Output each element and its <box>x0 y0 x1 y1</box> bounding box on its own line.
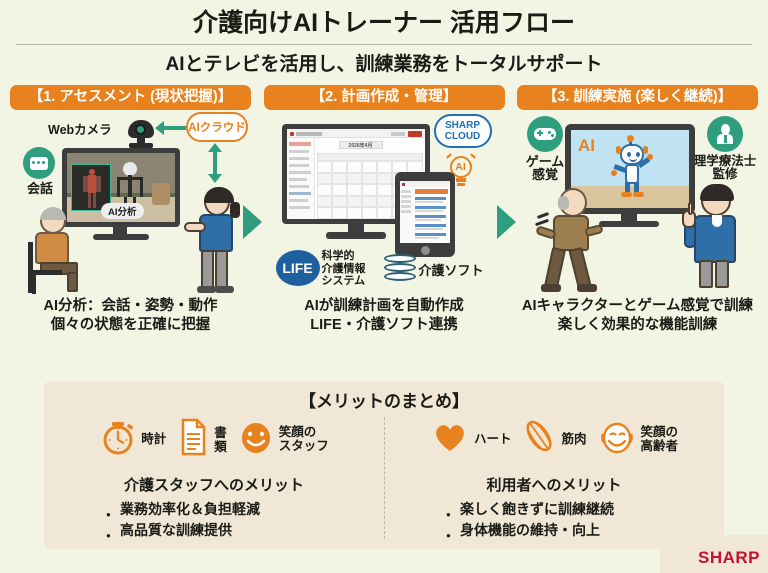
users-merits-title: 利用者へのメリット <box>384 474 724 495</box>
merits-column-staff: 時計 書 類 <box>44 412 384 541</box>
ai-robot-character <box>615 138 649 200</box>
list-item: 業務効率化＆負担軽減 <box>106 499 384 520</box>
exercising-torso <box>553 215 589 251</box>
exercising-head <box>559 188 587 217</box>
smiling-staff-line2: スタッフ <box>279 439 329 453</box>
panel-2-caption-line1: AIが訓練計画を自動作成 <box>264 297 505 316</box>
motion-line-2 <box>535 219 549 227</box>
merits-title: 【メリットのまとめ】 <box>44 381 724 412</box>
documents-label-line1: 書 <box>214 426 227 440</box>
cloud-sync-arrow-up <box>208 143 222 152</box>
documents-label: 書 類 <box>214 426 227 454</box>
panel-1-caption-line1: AI分析：会話・姿勢・動作 <box>10 297 251 316</box>
cloud-to-webcam-arrow-head <box>155 121 164 135</box>
flow-arrow-2-to-3 <box>497 205 516 239</box>
sharp-cloud-line1: SHARP <box>445 120 480 131</box>
life-badge-icon: LIFE <box>276 250 320 286</box>
elderly-shin <box>67 272 78 292</box>
sharp-logo: SHARP <box>698 548 768 573</box>
staff-merits-list: 業務効率化＆負担軽減 高品質な訓練提供 <box>106 499 384 541</box>
merit-icon-smiling-elderly: 笑顔の 高齢者 <box>597 416 679 461</box>
cloud-to-webcam-arrow-shaft <box>162 126 186 130</box>
exercising-elderly-figure <box>535 188 605 295</box>
list-item: 楽しく飽きずに訓練継続 <box>446 499 724 520</box>
step-1-header: 【1. アセスメント (現状把握)】 <box>10 85 251 110</box>
merit-icon-muscle: 筋肉 <box>521 416 586 461</box>
instructor-torso <box>694 215 736 263</box>
documents-icon <box>176 416 210 463</box>
training-tv-base <box>599 221 659 227</box>
life-label-line1: 科学的 <box>322 250 366 263</box>
smiling-elderly-label: 笑顔の 高齢者 <box>641 425 679 453</box>
flow-panel-1: Webカメラ AIクラウド <box>10 110 251 350</box>
list-item: 高品質な訓練提供 <box>106 520 384 541</box>
game-feel-line2: 感覚 <box>521 168 569 181</box>
panel-1-illustration: Webカメラ AIクラウド <box>10 110 251 295</box>
ai-bulb-label: AI <box>455 161 466 173</box>
staff-shoe-left <box>197 286 216 293</box>
panel-3-caption-line1: AIキャラクターとゲーム感覚で訓練 <box>517 297 758 316</box>
instructor-head <box>701 186 731 216</box>
staff-head <box>204 188 230 216</box>
planning-tablet <box>395 172 455 257</box>
ai-cloud-badge: AIクラウド <box>186 112 248 142</box>
panel-3-caption-line2: 楽しく効果的な機能訓練 <box>517 316 758 335</box>
staff-person-figure <box>182 188 242 295</box>
instructing-staff-figure <box>677 186 747 295</box>
clock-label: 時計 <box>141 432 166 446</box>
step-2-header: 【2. 計画作成・管理】 <box>264 85 505 110</box>
game-controller-icon <box>527 116 563 152</box>
panel-2-illustration: SHARP CLOUD AI <box>264 110 505 295</box>
flow-panel-3: ゲーム 感覚 理学療法士 監修 AI <box>517 110 758 350</box>
merit-icon-documents: 書 類 <box>176 416 227 463</box>
exercising-leg-left <box>544 247 566 289</box>
webcam-label: Webカメラ <box>48 124 112 137</box>
staff-leg-right <box>215 250 228 288</box>
pt-label-line2: 監修 <box>693 168 757 181</box>
panel-2-caption: AIが訓練計画を自動作成 LIFE・介護ソフト連携 <box>264 297 505 335</box>
smiling-staff-line1: 笑顔の <box>279 425 329 439</box>
flow-panel-2: SHARP CLOUD AI <box>264 110 505 350</box>
staff-shoe-right <box>215 286 234 293</box>
elderly-torso <box>35 232 69 264</box>
panel-1-caption: AI分析：会話・姿勢・動作 個々の状態を正確に把握 <box>10 297 251 335</box>
brand-logo-bar: SHARP <box>660 535 768 573</box>
webcam-icon <box>128 120 154 138</box>
instructor-pointing-hand <box>682 210 696 228</box>
pt-supervision-label: 理学療法士 監修 <box>693 155 757 181</box>
smiling-elderly-icon <box>597 416 637 461</box>
smiling-staff-label: 笑顔の スタッフ <box>279 425 329 453</box>
sharp-cloud-line2: CLOUD <box>445 131 481 142</box>
conversation-label: 会話 <box>20 182 60 195</box>
flow-panels: Webカメラ AIクラウド <box>0 110 768 350</box>
elderly-person-figure <box>26 208 88 295</box>
flow-step-headers: 【1. アセスメント (現状把握)】 【2. 計画作成・管理】 【3. 訓練実施… <box>0 77 768 110</box>
heart-label: ハート <box>474 432 512 446</box>
merit-icon-clock: 時計 <box>99 416 166 461</box>
panel-3-caption: AIキャラクターとゲーム感覚で訓練 楽しく効果的な機能訓練 <box>517 297 758 335</box>
exercising-shoe-right <box>577 284 597 292</box>
panel-2-caption-line2: LIFE・介護ソフト連携 <box>264 316 505 335</box>
panel-1-caption-line2: 個々の状態を正確に把握 <box>10 316 251 335</box>
muscle-icon <box>521 416 557 461</box>
smiling-elderly-line2: 高齢者 <box>641 439 679 453</box>
users-icon-row: ハート 筋肉 <box>384 416 724 472</box>
exercising-shoe-left <box>541 284 561 292</box>
cloud-sync-arrow-shaft <box>213 150 217 176</box>
muscle-label: 筋肉 <box>561 432 586 446</box>
merits-column-users: ハート 筋肉 <box>384 412 724 541</box>
panel-3-illustration: ゲーム 感覚 理学療法士 監修 AI <box>517 110 758 295</box>
skeleton-head <box>123 162 137 176</box>
instructor-leg-right <box>715 260 729 288</box>
page-subtitle: AIとテレビを活用し、訓練業務をトータルサポート <box>0 53 768 77</box>
physical-therapist-icon <box>707 116 743 152</box>
sharp-cloud-badge: SHARP CLOUD <box>434 114 492 148</box>
tablet-home-button[interactable] <box>421 246 430 255</box>
elderly-head <box>40 208 66 234</box>
staff-leg-left <box>201 250 214 288</box>
clock-icon <box>99 416 137 461</box>
life-label-line3: システム <box>322 275 366 288</box>
exercising-leg-right <box>568 247 591 289</box>
kaigo-soft-label: 介護ソフト <box>419 260 484 279</box>
chair-leg <box>32 274 36 294</box>
smiling-elderly-line1: 笑顔の <box>641 425 679 439</box>
game-feel-label: ゲーム 感覚 <box>521 155 569 181</box>
step-3-header: 【3. 訓練実施 (楽しく継続)】 <box>517 85 758 110</box>
page-header: 介護向けAIトレーナー 活用フロー AIとテレビを活用し、訓練業務をトータルサポ… <box>0 0 768 77</box>
merit-icon-heart: ハート <box>430 416 512 461</box>
ai-analysis-tag: AI分析 <box>101 203 144 219</box>
database-icon <box>384 253 416 285</box>
cloud-sync-arrow-down <box>208 174 222 183</box>
life-badge-label: LIFE <box>282 260 312 276</box>
instructor-leg-left <box>699 260 713 288</box>
merit-icon-smiling-staff: 笑顔の スタッフ <box>237 416 329 461</box>
documents-label-line2: 類 <box>214 440 227 454</box>
ai-screen-label: AI <box>578 136 595 156</box>
planning-monitor-base <box>326 232 386 239</box>
merits-summary-box: 【メリットのまとめ】 <box>44 381 724 549</box>
planning-tablet-screen <box>400 181 450 243</box>
staff-merits-title: 介護スタッフへのメリット <box>44 474 384 495</box>
assessment-tv-base <box>93 234 149 240</box>
calendar-month-label: 2026年4月 <box>339 141 383 149</box>
heart-icon <box>430 416 470 461</box>
life-label-line2: 介護情報 <box>322 263 366 276</box>
staff-icon-row: 時計 書 類 <box>44 416 384 472</box>
title-divider <box>16 44 752 45</box>
conversation-icon <box>23 147 55 179</box>
smiling-staff-icon <box>237 416 275 461</box>
page-title: 介護向けAIトレーナー 活用フロー <box>0 6 768 40</box>
ai-cloud-label: AIクラウド <box>188 119 246 135</box>
staff-torso <box>199 214 233 252</box>
life-system-label: 科学的 介護情報 システム <box>322 250 366 288</box>
staff-arm <box>184 222 206 232</box>
flow-arrow-1-to-2 <box>243 205 262 239</box>
